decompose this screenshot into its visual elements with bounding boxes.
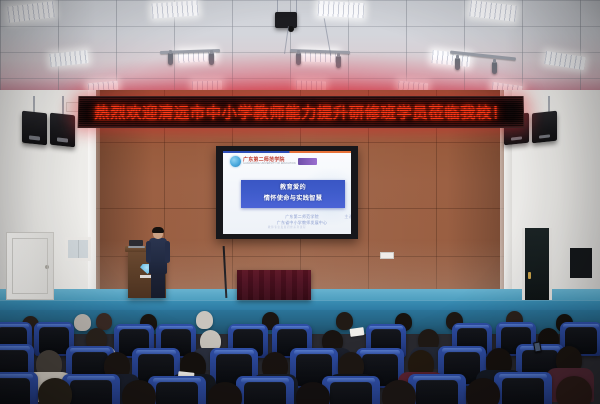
audience-seat[interactable]	[322, 376, 380, 404]
slide-title-line1: 教育爱的	[241, 185, 345, 191]
slide-top-accent-bar	[223, 151, 351, 153]
presenter-laptop	[128, 240, 145, 248]
attendee-head	[208, 382, 242, 404]
attendee-head	[382, 380, 416, 404]
attendee-head	[466, 378, 500, 404]
audience-seat[interactable]	[0, 372, 38, 404]
attendee-head	[196, 311, 213, 329]
slide-logo-en: GUANGDONG UNIVERSITY OF EDUCATION	[243, 163, 296, 165]
lecture-hall-photo: 热烈欢迎清远市中小学教师能力提升研修班学员莅临我校！ 广东第二师范学院 GUAN…	[0, 0, 600, 404]
attendee-head	[296, 382, 330, 404]
wall-switch-plate	[380, 252, 394, 259]
slide-title-line2: 情怀使命与实践智慧	[241, 196, 345, 202]
wall-window	[65, 237, 91, 261]
attendee-head	[122, 380, 156, 404]
ceiling	[0, 0, 600, 96]
audience-seat[interactable]	[148, 376, 206, 404]
slide-logo: 广东第二师范学院 GUANGDONG UNIVERSITY OF EDUCATI…	[230, 156, 317, 167]
wall-dark-panel	[570, 248, 592, 278]
attendee-head	[38, 378, 72, 404]
draped-table	[237, 270, 311, 300]
right-exit-door[interactable]	[522, 228, 552, 300]
led-banner-text: 热烈欢迎清远市中小学教师能力提升研修班学员莅临我校！	[79, 101, 524, 123]
door-handle-icon	[45, 265, 49, 269]
projection-screen-frame: 广东第二师范学院 GUANGDONG UNIVERSITY OF EDUCATI…	[216, 146, 358, 239]
slide-footer: 教师专业发展研修系列课程	[233, 225, 341, 229]
audience-seat[interactable]	[236, 376, 294, 404]
audience-seat[interactable]	[408, 374, 466, 404]
slide-badge	[298, 158, 317, 165]
handout-paper	[350, 327, 365, 337]
attendee-head	[556, 376, 592, 404]
slide-presenter-label: 主讲人	[344, 214, 351, 220]
slide-title-band: 教育爱的 情怀使命与实践智慧	[241, 180, 345, 208]
led-welcome-banner: 热烈欢迎清远市中小学教师能力提升研修班学员莅临我校！	[78, 96, 525, 128]
left-exit-door[interactable]	[6, 232, 54, 300]
projection-screen: 广东第二师范学院 GUANGDONG UNIVERSITY OF EDUCATI…	[223, 151, 351, 234]
university-emblem-icon	[230, 156, 241, 167]
attendee-head	[336, 312, 353, 330]
presenter-figure	[148, 228, 168, 298]
wall-speaker	[22, 111, 47, 146]
attendee-head	[74, 314, 91, 331]
audience-area	[0, 300, 600, 404]
audience-seat[interactable]	[494, 372, 552, 404]
